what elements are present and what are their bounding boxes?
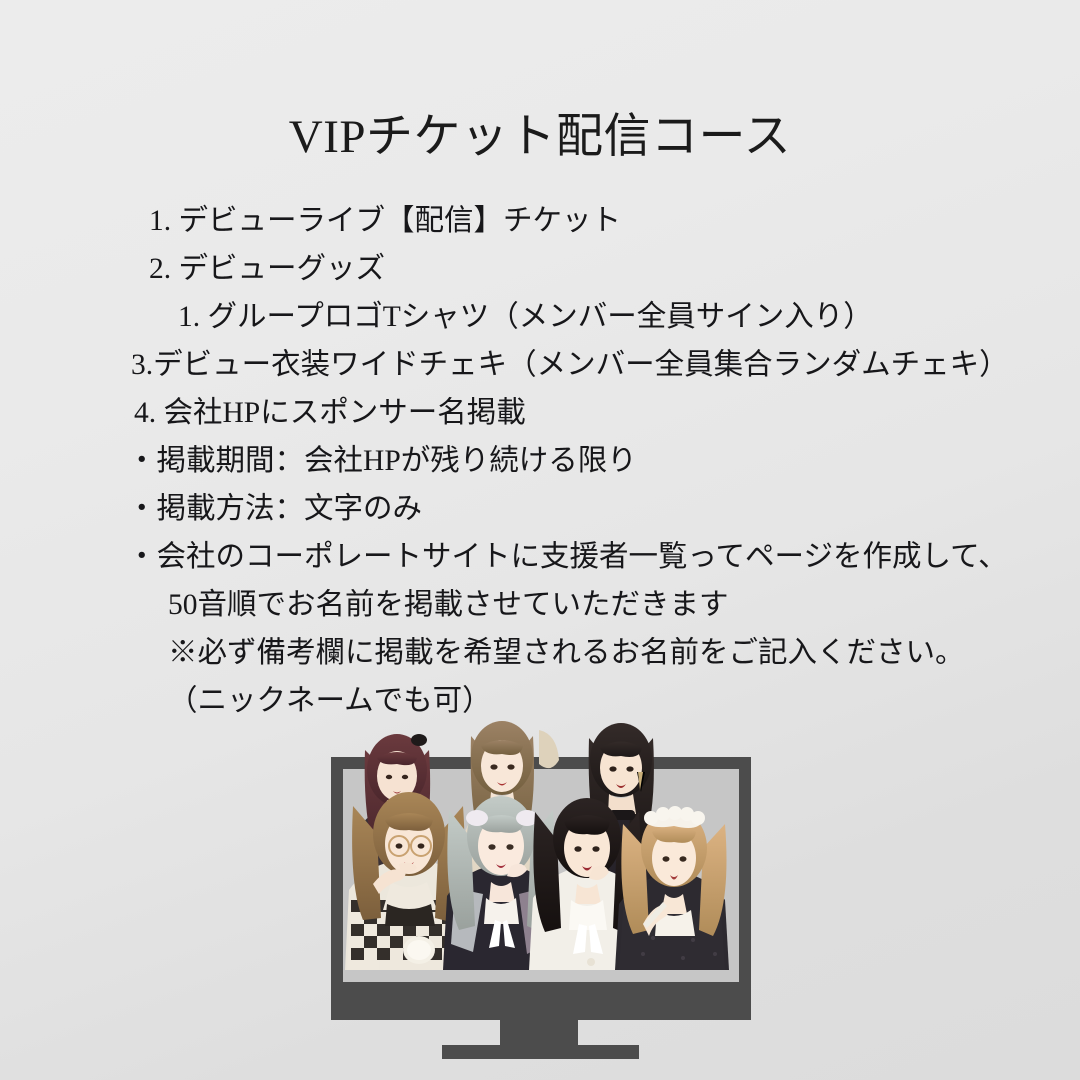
list-item-label: 会社HPにスポンサー名掲載 (156, 397, 526, 429)
bullet-item-label: 掲載方法：文字のみ (157, 493, 423, 525)
list-marker: 3. (131, 349, 153, 381)
course-contents-list: 1. デビューライブ【配信】チケット 2. デビューグッズ 1. グループロゴT… (0, 197, 1080, 725)
tv-stand-neck (500, 1020, 578, 1045)
poster-canvas: VIPチケット配信コース 1. デビューライブ【配信】チケット 2. デビューグ… (0, 0, 1080, 1080)
bullet-continuation: 50音順でお名前を掲載させていただきます (0, 581, 1080, 629)
list-item: 3.デビュー衣装ワイドチェキ（メンバー全員集合ランダムチェキ） (0, 341, 1080, 389)
list-marker: 4. (134, 397, 156, 429)
list-marker: 1. (178, 301, 200, 333)
list-item-label: デビューグッズ (171, 253, 385, 285)
group-photo (343, 714, 739, 970)
list-item: 2. デビューグッズ (0, 245, 1080, 293)
television-illustration (331, 714, 751, 1064)
bullet-continuation-label: ※必ず備考欄に掲載を希望されるお名前をご記入ください。 (168, 637, 965, 669)
list-item-label: デビュー衣装ワイドチェキ（メンバー全員集合ランダムチェキ） (153, 349, 1009, 381)
bullet-item: ・掲載方法：文字のみ (0, 485, 1080, 533)
bullet-continuation: ※必ず備考欄に掲載を希望されるお名前をご記入ください。 (0, 629, 1080, 677)
group-photo-svg (343, 714, 739, 970)
page-title: VIPチケット配信コース (0, 112, 1080, 164)
bullet-continuation-label: 50音順でお名前を掲載させていただきます (168, 589, 729, 621)
list-marker: 1. (149, 205, 171, 237)
bullet-marker: ・ (127, 541, 157, 573)
list-item: 1. デビューライブ【配信】チケット (0, 197, 1080, 245)
list-item-label: デビューライブ【配信】チケット (171, 205, 621, 237)
tv-stand-base (442, 1045, 639, 1059)
bullet-marker: ・ (127, 445, 157, 477)
bullet-item-label: 掲載期間：会社HPが残り続ける限り (157, 445, 637, 477)
bullet-item: ・掲載期間：会社HPが残り続ける限り (0, 437, 1080, 485)
list-item-nested: 1. グループロゴTシャツ（メンバー全員サイン入り） (0, 293, 1080, 341)
list-item: 4. 会社HPにスポンサー名掲載 (0, 389, 1080, 437)
list-item-label: グループロゴTシャツ（メンバー全員サイン入り） (200, 301, 873, 333)
bullet-continuation-label: （ニックネームでも可） (168, 685, 492, 717)
bullet-marker: ・ (127, 493, 157, 525)
bullet-item-label: 会社のコーポレートサイトに支援者一覧ってページを作成して、 (157, 541, 1008, 573)
bullet-item: ・会社のコーポレートサイトに支援者一覧ってページを作成して、 (0, 533, 1080, 581)
list-marker: 2. (149, 253, 171, 285)
